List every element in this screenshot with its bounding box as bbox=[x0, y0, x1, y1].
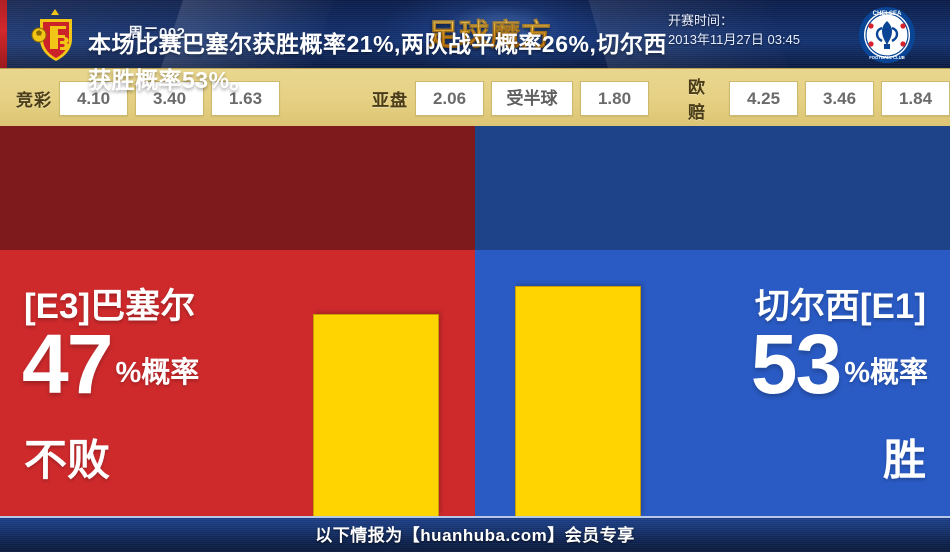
away-verdict: 胜 bbox=[883, 426, 926, 488]
svg-text:CHELSEA: CHELSEA bbox=[873, 11, 902, 17]
away-probability-value: 53 bbox=[751, 328, 840, 402]
summary-line-1: 本场比赛巴塞尔获胜概率21%,两队战平概率26%,切尔西 bbox=[88, 26, 868, 62]
summary-banner bbox=[0, 126, 950, 250]
footer-text: 以下情报为【huanhuba.com】会员专享 bbox=[0, 518, 950, 552]
home-probability-row: 47 %概率 bbox=[22, 328, 199, 402]
home-verdict: 不败 bbox=[24, 426, 110, 488]
home-probability-bar bbox=[313, 314, 439, 516]
probability-chart: [E3]巴塞尔 47 %概率 不败 切尔西[E1] 53 %概率 胜 bbox=[0, 250, 950, 516]
euro-odds-away[interactable]: 1.84 bbox=[881, 81, 950, 116]
home-probability-unit: %概率 bbox=[111, 349, 199, 402]
away-probability-bar bbox=[515, 286, 641, 516]
summary-text: 本场比赛巴塞尔获胜概率21%,两队战平概率26%,切尔西 获胜概率53%。 bbox=[88, 26, 868, 98]
away-probability-unit: %概率 bbox=[840, 349, 928, 402]
footer-bar: 以下情报为【huanhuba.com】会员专享 bbox=[0, 516, 950, 552]
away-probability-row: 53 %概率 bbox=[751, 328, 928, 402]
home-probability-value: 47 bbox=[22, 328, 111, 402]
basel-crest-icon bbox=[24, 6, 86, 64]
left-red-edge bbox=[0, 0, 7, 68]
svg-text:FOOTBALL CLUB: FOOTBALL CLUB bbox=[869, 55, 905, 60]
summary-left-half bbox=[0, 126, 475, 250]
summary-line-2: 获胜概率53%。 bbox=[88, 62, 868, 98]
odds-group-label: 竞彩 bbox=[16, 86, 52, 111]
summary-right-half bbox=[475, 126, 950, 250]
match-preview-graphic: 周二002 足球魔方 开赛时间： 2013年11月27日 03:45 CHELS… bbox=[0, 0, 950, 552]
